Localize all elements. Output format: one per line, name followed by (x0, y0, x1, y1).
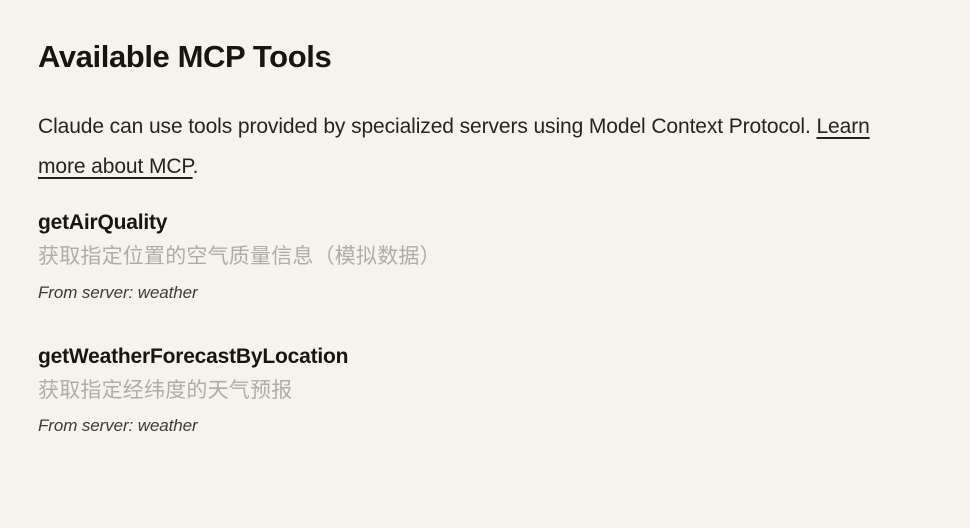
tool-source-server: From server: weather (38, 416, 932, 436)
intro-text-after-link: . (193, 155, 199, 178)
tool-source-server: From server: weather (38, 283, 932, 303)
intro-text-before-link: Claude can use tools provided by special… (38, 115, 816, 138)
tool-description: 获取指定经纬度的天气预报 (38, 375, 932, 408)
tool-description: 获取指定位置的空气质量信息（模拟数据） (38, 241, 932, 274)
intro-paragraph: Claude can use tools provided by special… (38, 107, 883, 187)
list-item[interactable]: getWeatherForecastByLocation 获取指定经纬度的天气预… (38, 343, 932, 437)
mcp-tools-panel: Available MCP Tools Claude can use tools… (0, 0, 970, 528)
tool-name: getWeatherForecastByLocation (38, 343, 932, 370)
tool-name: getAirQuality (38, 209, 932, 236)
tool-list: getAirQuality 获取指定位置的空气质量信息（模拟数据） From s… (38, 209, 932, 437)
list-item[interactable]: getAirQuality 获取指定位置的空气质量信息（模拟数据） From s… (38, 209, 932, 303)
page-title: Available MCP Tools (38, 38, 932, 77)
